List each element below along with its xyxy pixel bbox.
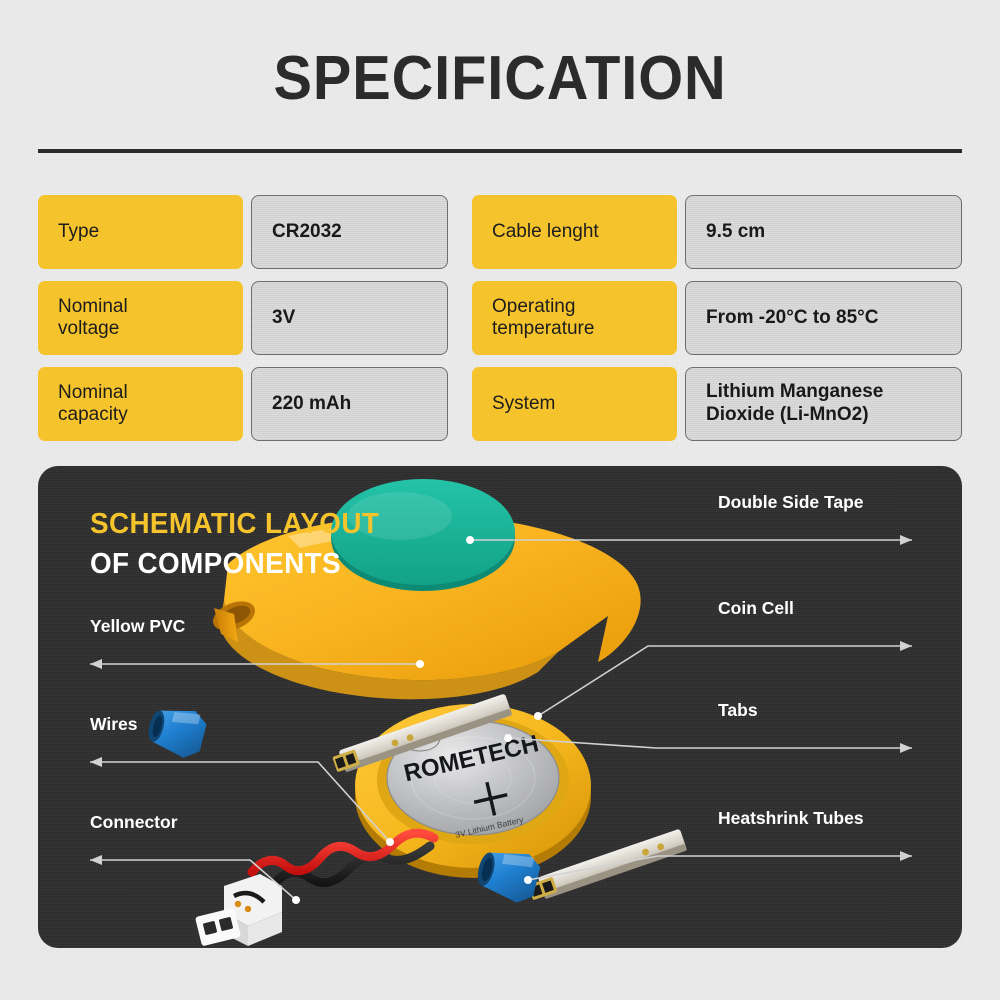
spec-value-cable-length: 9.5 cm: [685, 195, 962, 269]
spec-row: Operatingtemperature From -20°C to 85°C: [472, 281, 962, 355]
callout-label-coin-cell: Coin Cell: [718, 598, 794, 619]
schematic-heading-line1: SCHEMATIC LAYOUT: [90, 508, 379, 541]
specification-table: Type CR2032 Nominalvoltage 3V Nominalcap…: [38, 195, 962, 441]
spec-row: Nominalcapacity 220 mAh: [38, 367, 448, 441]
spec-value-type: CR2032: [251, 195, 448, 269]
title-divider: [38, 149, 962, 153]
leader-anchor-dots: [292, 536, 542, 904]
callout-label-connector: Connector: [90, 812, 178, 833]
spec-row: Type CR2032: [38, 195, 448, 269]
spec-column-right: Cable lenght 9.5 cm Operatingtemperature…: [472, 195, 962, 441]
page-title: SPECIFICATION: [35, 48, 965, 110]
spec-label-nominal-capacity: Nominalcapacity: [38, 367, 243, 441]
callout-label-yellow-pvc: Yellow PVC: [90, 616, 185, 637]
callout-label-wires: Wires: [90, 714, 138, 735]
schematic-layout-panel: ROMETECH 3V Lithium Battery Li: [38, 466, 962, 948]
spec-label-operating-temperature: Operatingtemperature: [472, 281, 677, 355]
spec-row: System Lithium ManganeseDioxide (Li-MnO2…: [472, 367, 962, 441]
spec-value-operating-temperature: From -20°C to 85°C: [685, 281, 962, 355]
spec-value-nominal-capacity: 220 mAh: [251, 367, 448, 441]
spec-value-nominal-voltage: 3V: [251, 281, 448, 355]
spec-label-system: System: [472, 367, 677, 441]
callout-label-tabs: Tabs: [718, 700, 758, 721]
spec-row: Nominalvoltage 3V: [38, 281, 448, 355]
spec-label-type: Type: [38, 195, 243, 269]
spec-row: Cable lenght 9.5 cm: [472, 195, 962, 269]
spec-value-system: Lithium ManganeseDioxide (Li-MnO2): [685, 367, 962, 441]
callout-label-heatshrink-tubes: Heatshrink Tubes: [718, 808, 864, 829]
specification-infographic: SPECIFICATION Type CR2032 Nominalvoltage…: [0, 0, 1000, 1000]
callout-label-double-side-tape: Double Side Tape: [718, 492, 864, 513]
spec-label-nominal-voltage: Nominalvoltage: [38, 281, 243, 355]
schematic-heading-line2: OF COMPONENTS: [90, 548, 379, 581]
schematic-heading: SCHEMATIC LAYOUT OF COMPONENTS: [90, 508, 391, 581]
spec-column-left: Type CR2032 Nominalvoltage 3V Nominalcap…: [38, 195, 448, 441]
spec-label-cable-length: Cable lenght: [472, 195, 677, 269]
